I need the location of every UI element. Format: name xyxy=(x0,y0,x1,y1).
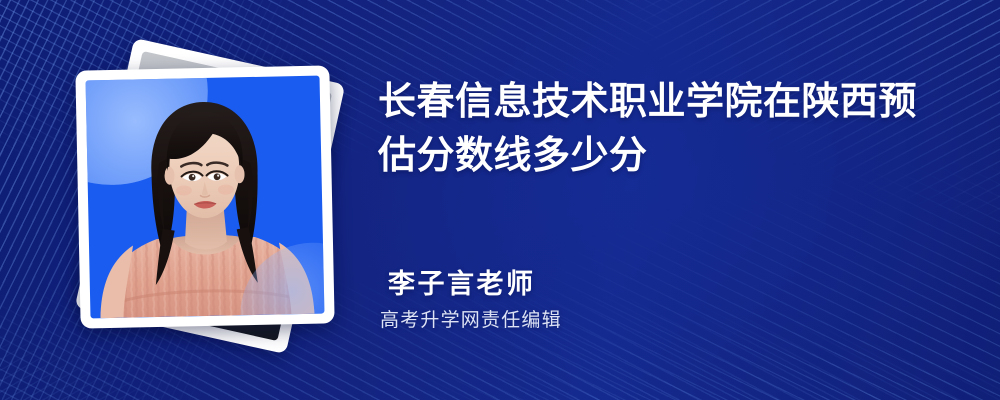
article-banner: 长春信息技术职业学院在陕西预估分数线多少分 李子言老师 高考升学网责任编辑 xyxy=(0,0,1000,400)
photo-card-front xyxy=(75,65,334,328)
author-name: 李子言老师 xyxy=(388,268,928,302)
author-photo-backdrop xyxy=(86,76,325,319)
page-title: 长春信息技术职业学院在陕西预估分数线多少分 xyxy=(378,76,948,184)
author-photo-stack xyxy=(60,40,360,360)
banner-text-column: 长春信息技术职业学院在陕西预估分数线多少分 李子言老师 高考升学网责任编辑 xyxy=(378,0,978,400)
author-role: 高考升学网责任编辑 xyxy=(380,309,928,334)
author-portrait-image xyxy=(86,76,325,319)
author-byline: 李子言老师 高考升学网责任编辑 xyxy=(388,268,928,333)
